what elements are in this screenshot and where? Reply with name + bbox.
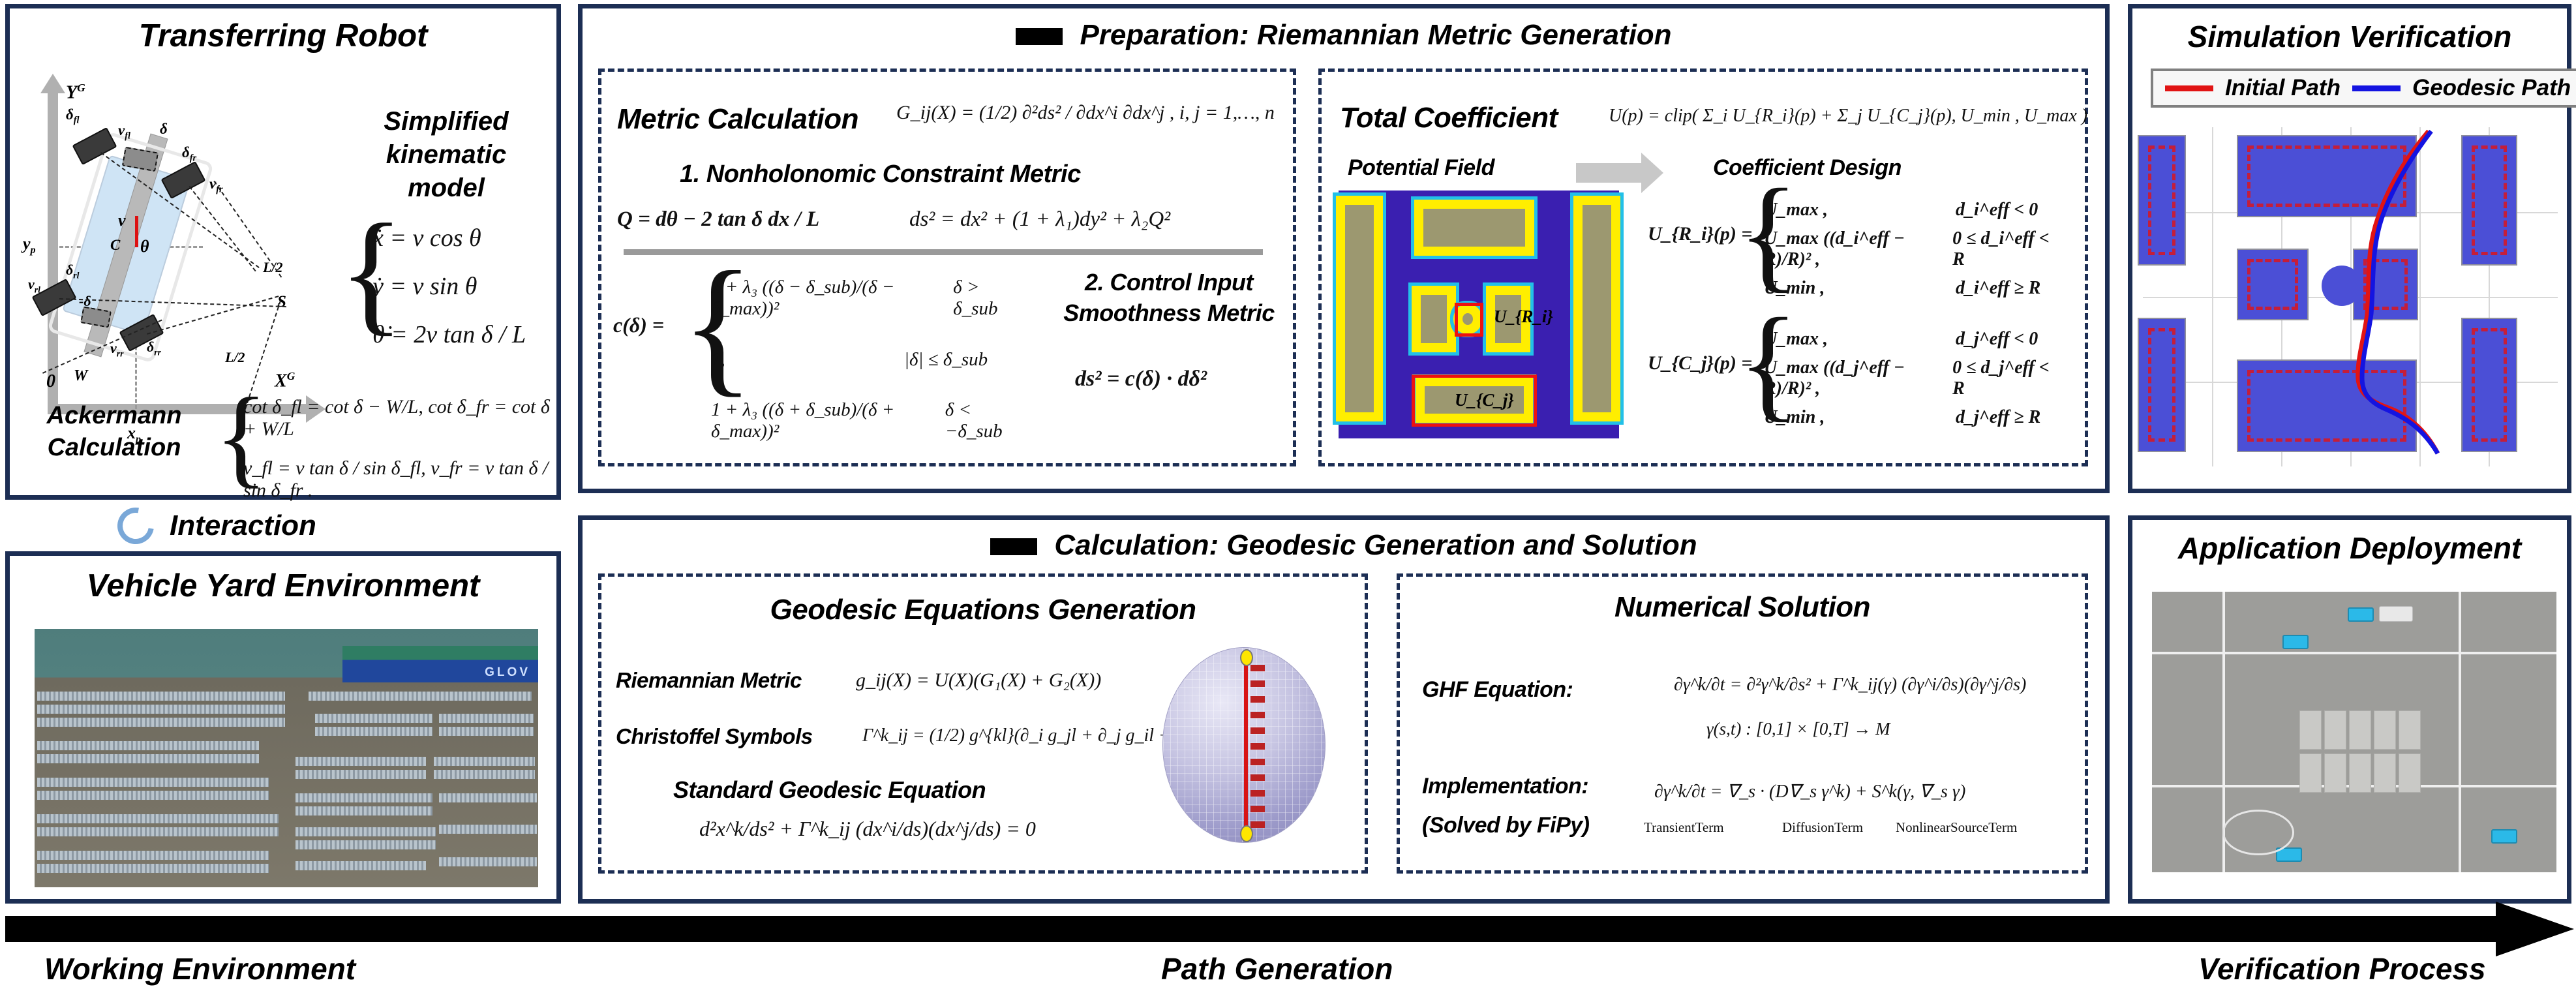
flow-arrow-icon — [1576, 163, 1641, 183]
UC-cases: U_max , d_j^eff < 0 U_max ((d_j^eff − R)… — [1764, 320, 2064, 437]
car-row — [295, 793, 432, 802]
page-title-simulation-verification: Simulation Verification — [2132, 19, 2567, 54]
box-numerical-solution: Numerical Solution GHF Equation: ∂γ^k/∂t… — [1397, 573, 2088, 874]
car-row — [295, 770, 426, 779]
c-case-2-cond: |δ| ≤ δ_sub — [904, 349, 988, 371]
footer-label-path-generation: Path Generation — [1161, 951, 1393, 986]
UR-cases: U_max , d_i^eff < 0 U_max ((d_i^eff − R)… — [1764, 191, 2064, 308]
parking-slot — [2349, 710, 2371, 750]
car-row — [295, 806, 432, 816]
band-title-preparation: Preparation: Riemannian Metric Generatio… — [583, 19, 2105, 52]
interaction-indicator: Interaction — [117, 508, 316, 544]
footer-label-verification-process: Verification Process — [2198, 951, 2486, 986]
agv-robot — [2348, 607, 2374, 622]
c-delta-label: c(δ) = — [613, 313, 664, 337]
c-delta-cases: 1 + λ₃ ((δ − δ_sub)/(δ − δ_max))² δ > δ_… — [711, 262, 1018, 457]
car-row — [295, 827, 436, 836]
deployment-aerial-photo — [2152, 592, 2556, 872]
potential-highlight-robot — [1455, 303, 1483, 337]
box-total-coefficient: Total Coefficient U(p) = clip( Σ_i U_{R_… — [1318, 69, 2088, 466]
parking-slot — [2324, 710, 2346, 750]
total-coefficient-formula: U(p) = clip( Σ_i U_{R_i}(p) + Σ_j U_{C_j… — [1609, 106, 2087, 127]
ghf-equation-formula: ∂γ^k/∂t = ∂²γ^k/∂s² + Γ^k_ij(γ) (∂γ^i/∂s… — [1674, 675, 2026, 695]
UC-case-1-expr: U_max , — [1764, 329, 1927, 350]
geodesic-endpoint-start — [1240, 649, 1253, 666]
neg-delta-label: -δ — [79, 293, 91, 310]
car-row — [37, 741, 259, 750]
total-coefficient-title: Total Coefficient — [1340, 102, 1558, 134]
UC-label: U_{C_j}(p) = — [1648, 352, 1752, 374]
ghf-domain-formula: γ(s,t) : [0,1] × [0,T] → M — [1706, 719, 1890, 739]
riemannian-metric-label: Riemannian Metric — [616, 668, 802, 693]
car-row — [439, 793, 537, 802]
c-case-1-cond: δ > δ_sub — [953, 277, 1018, 320]
car-row — [37, 705, 285, 714]
nonholonomic-Q-formula: Q = dθ − 2 tan δ dx / L — [617, 207, 819, 232]
page-title-transferring-robot: Transferring Robot — [10, 18, 556, 54]
box-geodesic-equations: Geodesic Equations Generation Riemannian… — [598, 573, 1368, 874]
parking-slot — [2324, 754, 2346, 793]
footer-label-working-environment: Working Environment — [44, 951, 356, 986]
c-case-1-expr: 1 + λ₃ ((δ − δ_sub)/(δ − δ_max))² — [711, 277, 930, 320]
potential-field-map: U_{R_i} U_{C_j} — [1339, 191, 1619, 438]
smoothness-ds-formula: ds² = c(δ) · dδ² — [1075, 367, 1207, 391]
v-rl-label: vrl — [28, 276, 40, 295]
geodesic-curve-dashes — [1250, 665, 1265, 828]
center-label: C — [110, 237, 120, 254]
delta-fl-label: δfl — [66, 106, 80, 127]
potential-label-UR: U_{R_i} — [1494, 307, 1553, 327]
UR-case-2-expr: U_max ((d_i^eff − R)/R)² , — [1764, 228, 1924, 270]
potential-obstacle — [1423, 209, 1525, 247]
legend-label-initial-path: Initial Path — [2225, 75, 2341, 101]
sim-path-svg — [2143, 127, 2558, 466]
car-row — [439, 857, 537, 866]
term-label-diffusion: DiffusionTerm — [1782, 819, 1863, 836]
page-title-vehicle-yard: Vehicle Yard Environment — [10, 568, 556, 604]
geodesic-sphere-illustration — [1162, 647, 1326, 843]
ship-name-label: GLOV — [485, 665, 530, 680]
car-row — [309, 692, 532, 701]
car-row — [37, 864, 269, 873]
ackermann-eq-1: cot δ_fl = cot δ − W/L, cot δ_fr = cot δ… — [243, 396, 556, 440]
geodesic-equations-title: Geodesic Equations Generation — [601, 594, 1365, 626]
bullet-square-icon — [1016, 28, 1063, 45]
geodesic-endpoint-end — [1240, 825, 1253, 842]
parking-slot — [2349, 754, 2371, 793]
car-row — [434, 770, 535, 779]
recycle-icon — [110, 500, 161, 551]
panel-simulation-verification: Simulation Verification Initial Path Geo… — [2128, 4, 2571, 493]
kinematics-equations: ẋ = v cos θ ẏ = v sin θ θ̇ = 2v tan δ / … — [372, 224, 562, 349]
implementation-formula: ∂γ^k/∂t = ∇_s · (D∇_s γ^k) + S^k(γ, ∇_s … — [1654, 780, 1965, 802]
potential-obstacle — [1421, 295, 1447, 343]
v-fl-label: vfl — [118, 122, 130, 142]
agv-robot — [2282, 635, 2309, 649]
standard-geodesic-equation-title: Standard Geodesic Equation — [673, 776, 986, 804]
agv-robot — [2491, 829, 2517, 844]
car-row — [295, 861, 426, 870]
parking-slot — [2399, 754, 2421, 793]
vehicle-yard-photo: GLOV — [35, 629, 538, 887]
ghf-equation-label: GHF Equation: — [1422, 677, 1573, 703]
nonholonomic-ds-formula: ds² = dx² + (1 + λ₁)dy² + λ₂Q² — [909, 207, 1170, 232]
ackermann-eq-2: v_fl = v tan δ / sin δ_fl, v_fr = v tan … — [243, 457, 556, 502]
y-axis-label: YG — [66, 82, 85, 103]
box-metric-calculation: Metric Calculation G_ij(X) = (1/2) ∂²ds²… — [598, 69, 1296, 466]
legend-swatch-initial-path — [2165, 85, 2213, 91]
ackermann-equations: cot δ_fl = cot δ − W/L, cot δ_fr = cot δ… — [243, 396, 556, 502]
potential-field-caption: Potential Field — [1348, 155, 1494, 181]
term-label-transient: TransientTerm — [1644, 819, 1724, 836]
UC-case-3-cond: d_j^eff ≥ R — [1956, 407, 2040, 428]
kinematics-eq-1: ẋ = v cos θ — [372, 224, 562, 252]
car-row — [37, 778, 269, 787]
UR-case-3-cond: d_i^eff ≥ R — [1956, 278, 2040, 299]
yard-marking-circle — [2222, 810, 2294, 855]
legend-label-geodesic-path: Geodesic Path — [2412, 75, 2571, 101]
potential-obstacle — [1583, 205, 1611, 412]
delta-fr-label: δfr — [182, 144, 196, 164]
delta-label: δ — [160, 121, 168, 138]
y-axis-arrowhead — [40, 74, 65, 93]
c-case-2-expr: 1, — [711, 349, 881, 371]
car-row — [37, 718, 285, 727]
panel-application-deployment: Application Deployment — [2128, 515, 2571, 904]
car-row — [315, 714, 432, 723]
kinematics-eq-3: θ̇ = 2v tan δ / L — [372, 320, 562, 349]
delta-rr-label: δrr — [147, 339, 161, 358]
interaction-label: Interaction — [170, 510, 316, 542]
lane-marking — [2152, 652, 2556, 654]
ackermann-calculation-label: Ackermann Calculation — [23, 400, 205, 463]
simplified-kinematic-model-label: Simplified kinematic model — [352, 105, 541, 206]
yp-label: yp — [23, 234, 36, 256]
parking-slot — [2374, 710, 2396, 750]
page-title-application-deployment: Application Deployment — [2132, 530, 2567, 566]
panel-preparation: Preparation: Riemannian Metric Generatio… — [578, 4, 2110, 493]
car-row — [37, 814, 279, 823]
car-row — [439, 825, 537, 834]
geodesic-path-curve — [2362, 131, 2438, 453]
v-label: v — [118, 211, 126, 230]
half-length-label-bottom: L/2 — [225, 349, 245, 366]
potential-label-UC: U_{C_j} — [1455, 390, 1514, 410]
control-input-smoothness-metric-title: 2. Control Input Smoothness Metric — [1052, 267, 1286, 329]
panel-vehicle-yard: Vehicle Yard Environment GLOV — [5, 551, 561, 904]
UC-case-1-cond: d_j^eff < 0 — [1956, 329, 2038, 350]
origin-label: 0 — [46, 371, 55, 392]
delta-rl-label: δrl — [66, 262, 79, 281]
UR-case-2-cond: 0 ≤ d_i^eff < R — [1952, 228, 2064, 270]
panel-transferring-robot: Transferring Robot YG XG 0 yp xp — [5, 4, 561, 500]
legend-swatch-geodesic-path — [2352, 85, 2401, 91]
car-row — [37, 791, 269, 800]
UR-case-1-expr: U_max , — [1764, 200, 1927, 221]
parking-slot — [2299, 754, 2322, 793]
UR-case-1-cond: d_i^eff < 0 — [1956, 200, 2038, 221]
process-flow-arrow — [5, 911, 2569, 947]
car-row — [37, 692, 285, 701]
track-width-label: W — [74, 367, 87, 385]
riemannian-metric-formula: g_ij(X) = U(X)(G₁(X) + G₂(X)) — [856, 669, 1101, 692]
parking-slot — [2374, 754, 2396, 793]
parked-car — [2379, 606, 2413, 622]
icr-ray-2 — [189, 186, 256, 271]
bullet-square-icon — [990, 538, 1037, 555]
car-carrier-ship: GLOV — [342, 646, 538, 682]
car-row — [37, 754, 259, 763]
car-row — [295, 840, 436, 849]
standard-geodesic-equation-formula: d²x^k/ds² + Γ^k_ij (dx^i/ds)(dx^j/ds) = … — [699, 817, 1036, 841]
car-row — [439, 727, 534, 736]
numerical-solution-title: Numerical Solution — [1400, 591, 2085, 624]
implementation-note: (Solved by FiPy) — [1422, 813, 1590, 838]
car-row — [439, 714, 534, 723]
lane-marking — [2459, 592, 2461, 872]
car-row — [434, 757, 535, 766]
car-row — [315, 727, 432, 736]
panel-calculation: Calculation: Geodesic Generation and Sol… — [578, 515, 2110, 904]
UC-case-2-cond: 0 ≤ d_j^eff < R — [1952, 358, 2064, 399]
nonholonomic-constraint-metric-title: 1. Nonholonomic Constraint Metric — [680, 160, 1081, 189]
car-row — [37, 827, 279, 836]
term-label-nonlinear-source: NonlinearSourceTerm — [1896, 819, 2017, 836]
metric-formula-G: G_ij(X) = (1/2) ∂²ds² / ∂dx^i ∂dx^j , i,… — [896, 102, 1275, 124]
x-axis-label: XG — [275, 370, 295, 391]
parking-slot — [2399, 710, 2421, 750]
geodesic-curve-on-sphere — [1244, 654, 1248, 837]
implementation-label: Implementation: — [1422, 774, 1588, 799]
simulation-plot — [2143, 127, 2558, 466]
process-flow-arrowhead — [2496, 902, 2574, 956]
process-flow-bar — [5, 916, 2497, 942]
christoffel-symbols-label: Christoffel Symbols — [616, 724, 813, 749]
c-case-3-cond: δ < −δ_sub — [945, 399, 1018, 442]
band-title-calculation: Calculation: Geodesic Generation and Sol… — [583, 529, 2105, 562]
metric-calculation-title: Metric Calculation — [617, 103, 858, 136]
theta-label: θ — [140, 237, 149, 256]
car-row — [37, 851, 269, 860]
potential-obstacle — [1345, 205, 1374, 412]
simulation-legend: Initial Path Geodesic Path — [2151, 69, 2576, 108]
UC-case-3-expr: U_min , — [1764, 407, 1927, 428]
velocity-arrow-center — [135, 216, 138, 247]
y-axis — [48, 88, 58, 413]
parking-slot — [2299, 710, 2322, 750]
UR-label: U_{R_i}(p) = — [1648, 223, 1752, 245]
UC-case-2-expr: U_max ((d_j^eff − R)/R)² , — [1764, 358, 1924, 399]
car-row — [295, 757, 426, 766]
c-case-3-expr: 1 + λ₃ ((δ + δ_sub)/(δ + δ_max))² — [711, 399, 922, 442]
kinematics-eq-2: ẏ = v sin θ — [372, 272, 562, 301]
